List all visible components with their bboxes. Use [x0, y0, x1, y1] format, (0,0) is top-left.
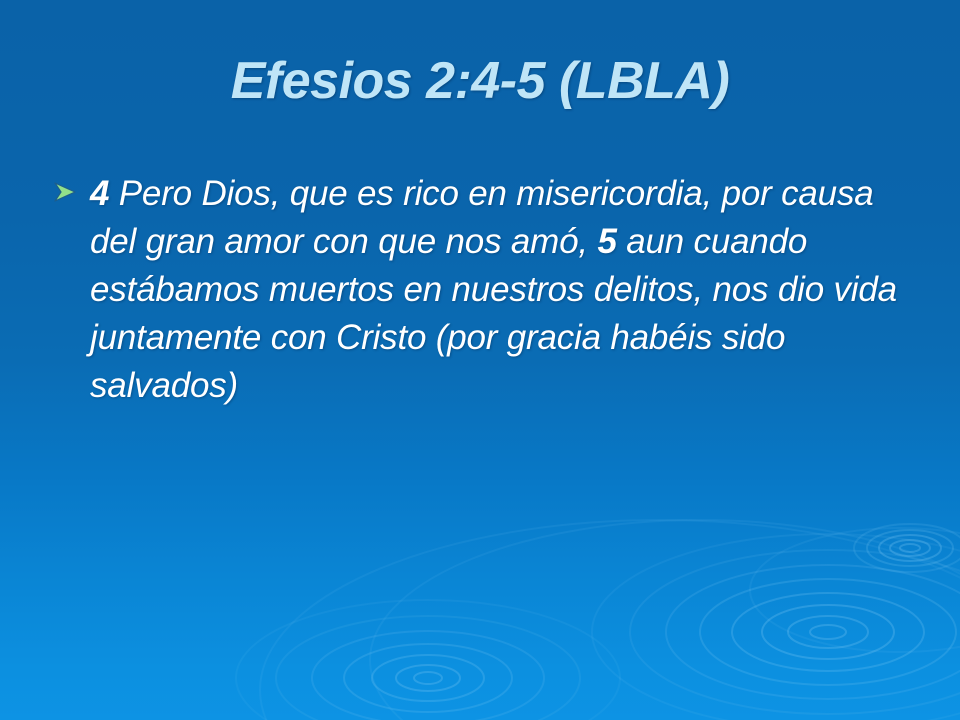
verse-number-5: 5 [597, 222, 616, 261]
page-title: Efesios 2:4-5 (LBLA) [231, 54, 730, 109]
list-item: 4 Pero Dios, que es rico en misericordia… [52, 170, 912, 410]
ripple-large-bottomright [592, 534, 960, 720]
arrow-bullet-icon [52, 170, 90, 205]
presentation-slide: Efesios 2:4-5 (LBLA) 4 Pero Dios, que es… [0, 0, 960, 720]
scripture-text: 4 Pero Dios, que es rico en misericordia… [90, 170, 912, 410]
title-placeholder: Efesios 2:4-5 (LBLA) [0, 54, 960, 109]
body-placeholder: 4 Pero Dios, que es rico en misericordia… [52, 170, 912, 410]
ripple-small-topright [854, 524, 960, 572]
ripple-outer-arcs [260, 520, 960, 720]
verse-number-4: 4 [90, 174, 109, 213]
ripple-medium-bottomcenter [236, 600, 620, 720]
